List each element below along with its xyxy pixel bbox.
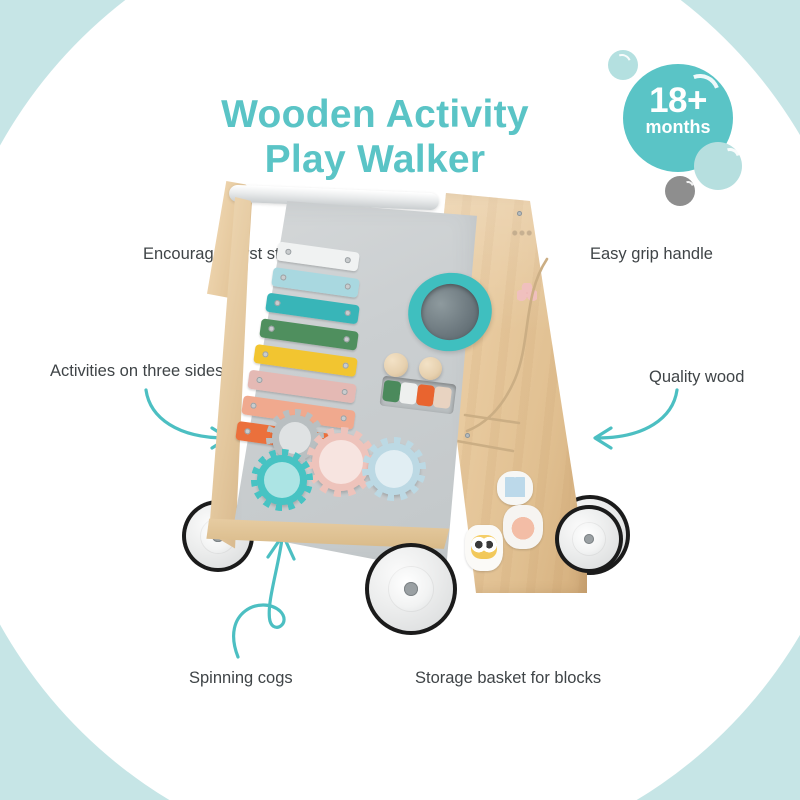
age-badge-value: 18+ bbox=[623, 83, 733, 118]
decorative-bubble-small bbox=[608, 50, 638, 80]
bubble-shine-icon bbox=[716, 144, 743, 171]
cog-face-spiral-icon bbox=[375, 450, 413, 488]
wooden-knob[interactable] bbox=[419, 357, 442, 380]
bubble-shine-icon bbox=[680, 179, 696, 195]
wheel-front-right bbox=[555, 505, 623, 573]
wheel-front-left bbox=[365, 543, 457, 635]
infographic-canvas: Wooden Activity Play Walker 18+ months E… bbox=[0, 0, 800, 800]
cog-face-plain bbox=[264, 462, 300, 498]
cog-teal[interactable] bbox=[257, 455, 307, 505]
decorative-bubble-gray bbox=[665, 176, 695, 206]
bead-cream[interactable] bbox=[433, 386, 452, 409]
product-image bbox=[165, 175, 635, 655]
bead-figure-owl bbox=[465, 525, 503, 571]
feature-label-storage-basket-for-blocks: Storage basket for blocks bbox=[415, 668, 601, 688]
age-badge-unit: months bbox=[623, 118, 733, 136]
feature-label-quality-wood: Quality wood bbox=[649, 367, 744, 387]
screw bbox=[517, 211, 522, 216]
cog-spiral[interactable] bbox=[368, 443, 420, 495]
xylophone-bar-lightblue[interactable] bbox=[271, 267, 360, 298]
feature-label-spinning-cogs: Spinning cogs bbox=[189, 668, 293, 688]
cog-face-rabbit-icon bbox=[319, 440, 363, 484]
wooden-knob[interactable] bbox=[384, 353, 408, 377]
bead-figure-fox bbox=[503, 505, 543, 549]
cog-rabbit[interactable] bbox=[312, 433, 370, 491]
page-title: Wooden Activity Play Walker bbox=[170, 92, 580, 182]
bead-figure-butterfly bbox=[497, 471, 533, 505]
brand-logo bbox=[510, 227, 534, 239]
decorative-bubble-medium bbox=[694, 142, 742, 190]
xylophone-bar-teal[interactable] bbox=[265, 293, 360, 325]
bubble-shine-icon bbox=[610, 51, 634, 75]
title-line-1: Wooden Activity bbox=[221, 93, 529, 136]
